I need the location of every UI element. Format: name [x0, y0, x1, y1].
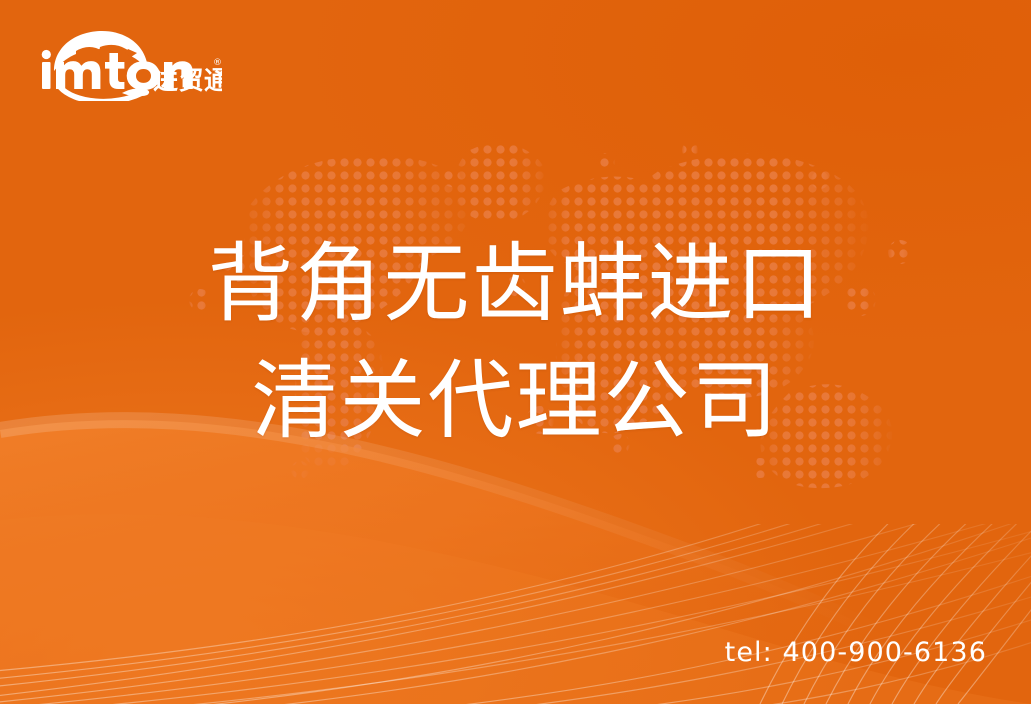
brand-logo[interactable]: 进贸通 ®: [36, 27, 222, 101]
headline-line-1: 背角无齿蚌进口: [0, 226, 1031, 343]
logo-trademark-symbol: ®: [213, 58, 222, 68]
fish-arrow-icon: [122, 89, 149, 97]
logo-chinese-text: 进贸通: [153, 66, 222, 95]
page-title: 背角无齿蚌进口 清关代理公司: [0, 226, 1031, 460]
contact-telephone[interactable]: tel: 400-900-6136: [725, 637, 987, 668]
promo-banner: 进贸通 ® 背角无齿蚌进口 清关代理公司 tel: 400-900-6136: [0, 0, 1031, 704]
headline-line-2: 清关代理公司: [0, 343, 1031, 460]
